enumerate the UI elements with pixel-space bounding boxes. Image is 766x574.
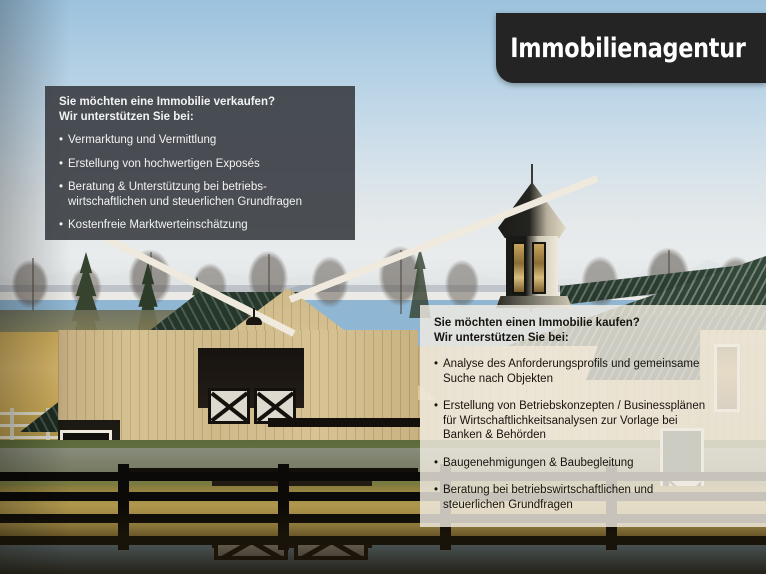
list-item: • Beratung & Unterstützung bei betriebs-… <box>59 180 343 209</box>
bullet-icon: • <box>59 180 63 195</box>
bullet-icon: • <box>59 133 63 148</box>
panel-buy-heading: Sie möchten einen Immobilie kaufen? Wir … <box>434 316 754 345</box>
list-item-line2: steuerlichen Grundfragen <box>443 498 754 513</box>
panel-sell-heading-line2: Wir unterstützen Sie bei: <box>59 110 343 125</box>
cupola-spire <box>531 164 533 184</box>
bullet-icon: • <box>434 483 438 498</box>
cupola-window <box>512 242 526 294</box>
hayloft-door-left <box>208 388 250 424</box>
list-item-line1: Erstellung von hochwertigen Exposés <box>68 157 343 172</box>
bullet-icon: • <box>59 157 63 172</box>
header-title-bar: Immobilienagentur <box>496 13 766 83</box>
barn-beam-upper <box>268 418 420 427</box>
list-item: • Beratung bei betriebswirtschaftlichen … <box>434 483 754 512</box>
panel-buy-heading-line2: Wir unterstützen Sie bei: <box>434 331 754 346</box>
panel-sell-list: • Vermarktung und Vermittlung • Erstellu… <box>59 133 343 233</box>
list-item-line2: für Wirtschaftlichkeitsanalysen zur Vorl… <box>443 414 754 429</box>
page-title: Immobilienagentur <box>510 33 745 64</box>
list-item-line1: Vermarktung und Vermittlung <box>68 133 343 148</box>
panel-sell-heading-line1: Sie möchten eine Immobilie verkaufen? <box>59 95 343 110</box>
list-item-line1: Beratung & Unterstützung bei betriebs- <box>68 180 343 195</box>
cupola-window <box>532 242 546 294</box>
bullet-icon: • <box>434 399 438 414</box>
panel-buy-list: • Analyse des Anforderungsprofils und ge… <box>434 357 754 512</box>
bullet-icon: • <box>59 218 63 233</box>
list-item-line1: Beratung bei betriebswirtschaftlichen un… <box>443 483 754 498</box>
list-item: • Vermarktung und Vermittlung <box>59 133 343 148</box>
list-item-line3: Banken & Behörden <box>443 428 754 443</box>
panel-buy: Sie möchten einen Immobilie kaufen? Wir … <box>420 305 766 527</box>
list-item: • Kostenfreie Marktwerteinschätzung <box>59 218 343 233</box>
slide-canvas: Immobilienagentur Sie möchten eine Immob… <box>0 0 766 574</box>
list-item-line2: Suche nach Objekten <box>443 372 754 387</box>
panel-buy-heading-line1: Sie möchten einen Immobilie kaufen? <box>434 316 754 331</box>
list-item: • Erstellung von Betriebskonzepten / Bus… <box>434 399 754 443</box>
list-item: • Analyse des Anforderungsprofils und ge… <box>434 357 754 386</box>
list-item: • Erstellung von hochwertigen Exposés <box>59 157 343 172</box>
panel-sell-heading: Sie möchten eine Immobilie verkaufen? Wi… <box>59 95 343 124</box>
list-item: • Baugenehmigungen & Baubegleitung <box>434 456 754 471</box>
bullet-icon: • <box>434 456 438 471</box>
list-item-line1: Analyse des Anforderungsprofils und geme… <box>443 357 754 372</box>
bullet-icon: • <box>434 357 438 372</box>
gable-lamp-icon <box>246 308 262 326</box>
list-item-line1: Erstellung von Betriebskonzepten / Busin… <box>443 399 754 414</box>
list-item-line1: Baugenehmigungen & Baubegleitung <box>443 456 754 471</box>
panel-sell: Sie möchten eine Immobilie verkaufen? Wi… <box>45 86 355 240</box>
list-item-line2: wirtschaftlichen und steuerlichen Grundf… <box>68 195 343 210</box>
list-item-line1: Kostenfreie Marktwerteinschätzung <box>68 218 343 233</box>
